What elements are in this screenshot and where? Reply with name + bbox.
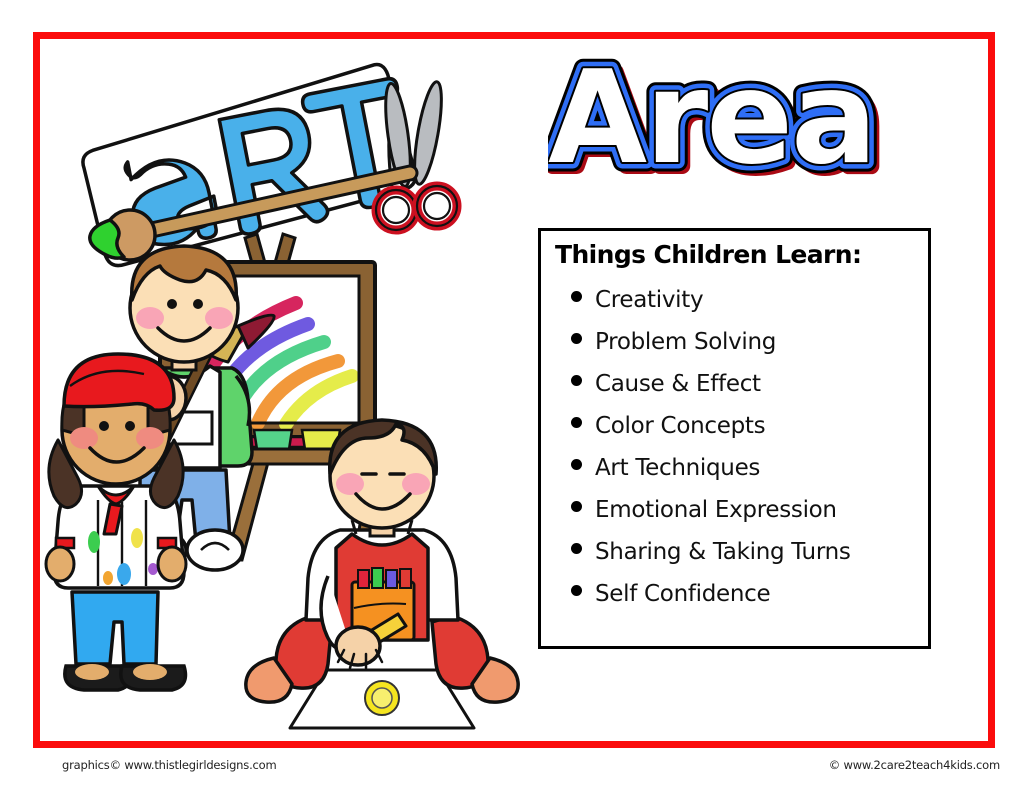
list-item-label: Sharing & Taking Turns	[595, 539, 851, 565]
list-item: Emotional Expression	[571, 497, 851, 539]
list-item-label: Color Concepts	[595, 413, 765, 439]
svg-text:Area: Area	[548, 48, 875, 193]
list-item: Cause & Effect	[571, 371, 851, 413]
list-item-label: Emotional Expression	[595, 497, 837, 523]
child-sitting-with-crayons	[246, 420, 518, 728]
art-area-illustration	[40, 230, 600, 730]
footer-credit-left: graphics© www.thistlegirldesigns.com	[62, 758, 276, 772]
area-title-outline: Area Area Area Area	[548, 48, 875, 193]
list-item: Art Techniques	[571, 455, 851, 497]
info-box-heading: Things Children Learn:	[555, 240, 861, 269]
scissors-icon	[376, 80, 457, 230]
list-item: Problem Solving	[571, 329, 851, 371]
learning-list: Creativity Problem Solving Cause & Effec…	[571, 287, 851, 623]
list-item-label: Art Techniques	[595, 455, 760, 481]
list-item-label: Cause & Effect	[595, 371, 761, 397]
list-item-label: Creativity	[595, 287, 703, 313]
list-item-label: Problem Solving	[595, 329, 776, 355]
girl-in-red-beret	[46, 354, 186, 690]
list-item: Sharing & Taking Turns	[571, 539, 851, 581]
list-item: Creativity	[571, 287, 851, 329]
page-title: Area Area Area Area Area	[548, 48, 948, 198]
crayon-scribble	[365, 681, 399, 715]
list-item: Color Concepts	[571, 413, 851, 455]
poster-canvas: Area Area Area Area Area Things Children…	[0, 0, 1035, 800]
footer-credit-right: © www.2care2teach4kids.com	[829, 758, 1000, 772]
list-item-label: Self Confidence	[595, 581, 770, 607]
list-item: Self Confidence	[571, 581, 851, 623]
